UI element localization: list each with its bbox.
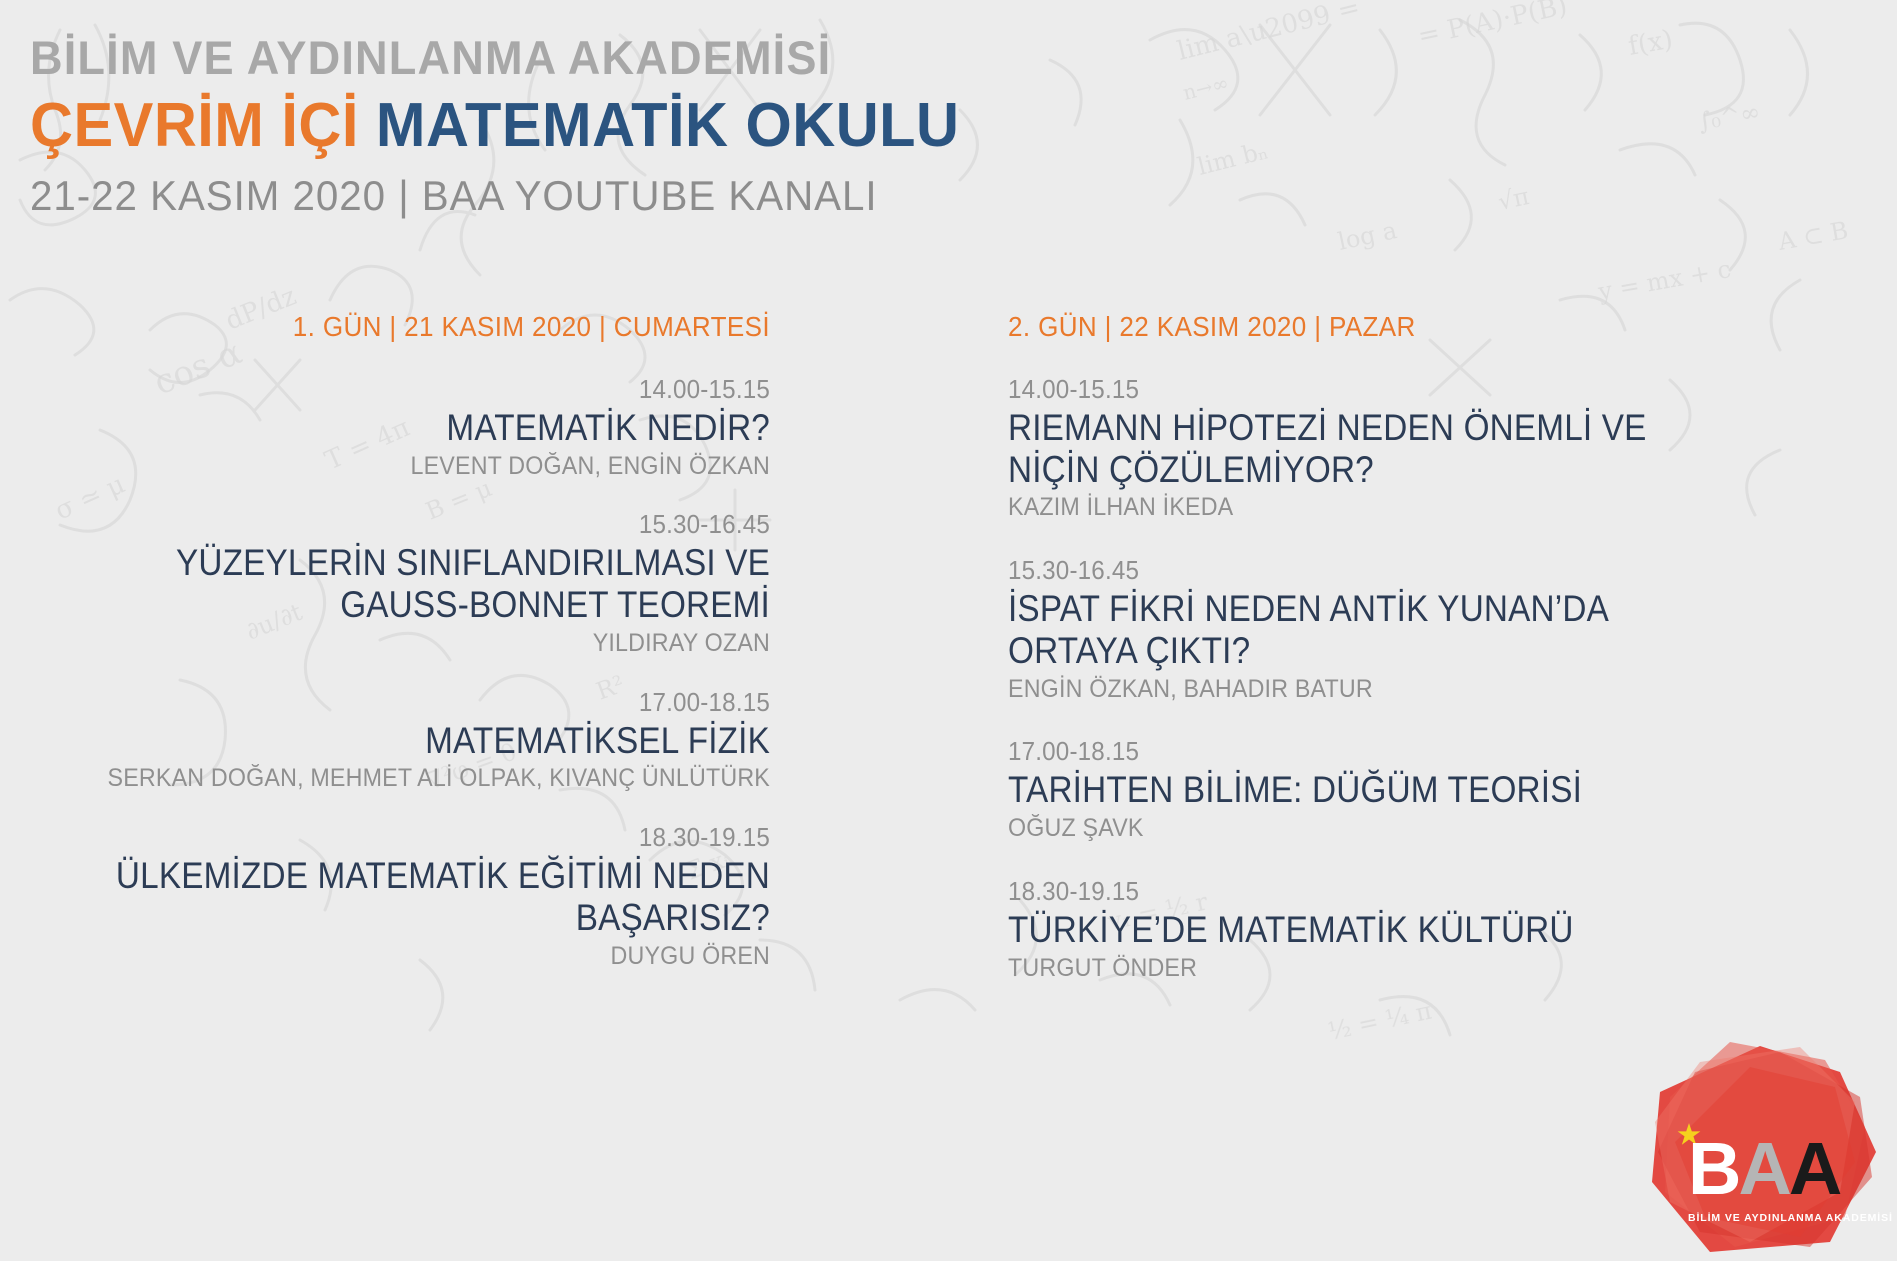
svg-text:log a: log a	[1335, 216, 1399, 256]
session-time: 18.30-19.15	[1008, 877, 1752, 907]
session-title: ÜLKEMİZDE MATEMATİK EĞİTİMİ NEDEN BAŞARI…	[104, 855, 770, 939]
session-time: 17.00-18.15	[82, 688, 770, 718]
svg-text:lim bₙ: lim bₙ	[1195, 136, 1271, 180]
session-item: 15.30-16.45 YÜZEYLERİN SINIFLANDIRILMASI…	[30, 510, 770, 657]
organization-name: BİLİM VE AYDINLANMA AKADEMİSİ	[30, 34, 1086, 81]
logo-subtitle: BİLİM VE AYDINLANMA AKADEMİSİ	[1688, 1212, 1888, 1224]
session-time: 14.00-15.15	[1008, 375, 1752, 405]
session-title: MATEMATİK NEDİR?	[104, 407, 770, 449]
session-item: 18.30-19.15 TÜRKİYE’DE MATEMATİK KÜLTÜRÜ…	[1008, 877, 1808, 982]
logo-letter-a-gray: A	[1738, 1127, 1788, 1210]
day-heading-2: 2. GÜN | 22 KASIM 2020 | PAZAR	[1008, 313, 1752, 341]
baa-logo: BAA BİLİM VE AYDINLANMA AKADEMİSİ	[1640, 1042, 1880, 1257]
svg-text:y = mx + c: y = mx + c	[1595, 255, 1733, 306]
session-speakers: LEVENT DOĞAN, ENGİN ÖZKAN	[82, 452, 770, 481]
session-time: 18.30-19.15	[82, 823, 770, 853]
session-speakers: SERKAN DOĞAN, MEHMET ALİ OLPAK, KIVANÇ Ü…	[82, 764, 770, 793]
session-title: RIEMANN HİPOTEZİ NEDEN ÖNEMLİ VE NİÇİN Ç…	[1008, 407, 1728, 491]
session-item: 14.00-15.15 RIEMANN HİPOTEZİ NEDEN ÖNEML…	[1008, 375, 1808, 522]
session-speakers: TURGUT ÖNDER	[1008, 954, 1752, 983]
schedule-column-day2: 2. GÜN | 22 KASIM 2020 | PAZAR 14.00-15.…	[1008, 313, 1808, 1016]
session-speakers: DUYGU ÖREN	[82, 942, 770, 971]
day-heading-1: 1. GÜN | 21 KASIM 2020 | CUMARTESİ	[82, 313, 770, 341]
session-speakers: YILDIRAY OZAN	[82, 629, 770, 658]
svg-text:∫₀^∞: ∫₀^∞	[1696, 98, 1762, 136]
session-item: 14.00-15.15 MATEMATİK NEDİR? LEVENT DOĞA…	[30, 375, 770, 480]
session-speakers: KAZIM İLHAN İKEDA	[1008, 493, 1752, 522]
session-time: 15.30-16.45	[82, 510, 770, 540]
svg-text:f(x): f(x)	[1626, 25, 1675, 62]
svg-text:A ⊂ B: A ⊂ B	[1775, 216, 1850, 256]
svg-text:√π: √π	[1495, 182, 1531, 216]
session-time: 14.00-15.15	[82, 375, 770, 405]
session-title: YÜZEYLERİN SINIFLANDIRILMASI VE GAUSS-BO…	[104, 542, 770, 626]
session-item: 17.00-18.15 MATEMATİKSEL FİZİK SERKAN DO…	[30, 688, 770, 793]
session-title: İSPAT FİKRİ NEDEN ANTİK YUNAN’DA ORTAYA …	[1008, 588, 1728, 672]
poster-title-prefix: ÇEVRİM İÇİ	[30, 91, 359, 160]
session-time: 15.30-16.45	[1008, 556, 1752, 586]
poster-title: ÇEVRİM İÇİ MATEMATİK OKULU	[30, 95, 1086, 157]
session-time: 17.00-18.15	[1008, 737, 1752, 767]
poster-subtitle-dates-channel: 21-22 KASIM 2020 | BAA YOUTUBE KANALI	[30, 175, 1086, 217]
svg-text:lim a\u2099 =: lim a\u2099 =	[1174, 0, 1362, 67]
session-item: 18.30-19.15 ÜLKEMİZDE MATEMATİK EĞİTİMİ …	[30, 823, 770, 970]
session-item: 15.30-16.45 İSPAT FİKRİ NEDEN ANTİK YUNA…	[1008, 556, 1808, 703]
logo-letter-a-black: A	[1789, 1127, 1839, 1210]
svg-text:n→∞: n→∞	[1180, 70, 1231, 104]
svg-text:= P(A)·P(B): = P(A)·P(B)	[1415, 0, 1570, 52]
session-title: MATEMATİKSEL FİZİK	[104, 720, 770, 762]
session-item: 17.00-18.15 TARİHTEN BİLİME: DÜĞÜM TEORİ…	[1008, 737, 1808, 842]
poster-title-main: MATEMATİK OKULU	[376, 91, 960, 160]
poster-header: BİLİM VE AYDINLANMA AKADEMİSİ ÇEVRİM İÇİ…	[30, 34, 1130, 217]
session-speakers: OĞUZ ŞAVK	[1008, 814, 1752, 843]
schedule-column-day1: 1. GÜN | 21 KASIM 2020 | CUMARTESİ 14.00…	[30, 313, 770, 1000]
session-speakers: ENGİN ÖZKAN, BAHADIR BATUR	[1008, 675, 1752, 704]
logo-letter-b: B	[1688, 1127, 1738, 1210]
logo-lettermark: BAA	[1688, 1132, 1868, 1208]
session-title: TARİHTEN BİLİME: DÜĞÜM TEORİSİ	[1008, 769, 1728, 811]
session-title: TÜRKİYE’DE MATEMATİK KÜLTÜRÜ	[1008, 909, 1728, 951]
